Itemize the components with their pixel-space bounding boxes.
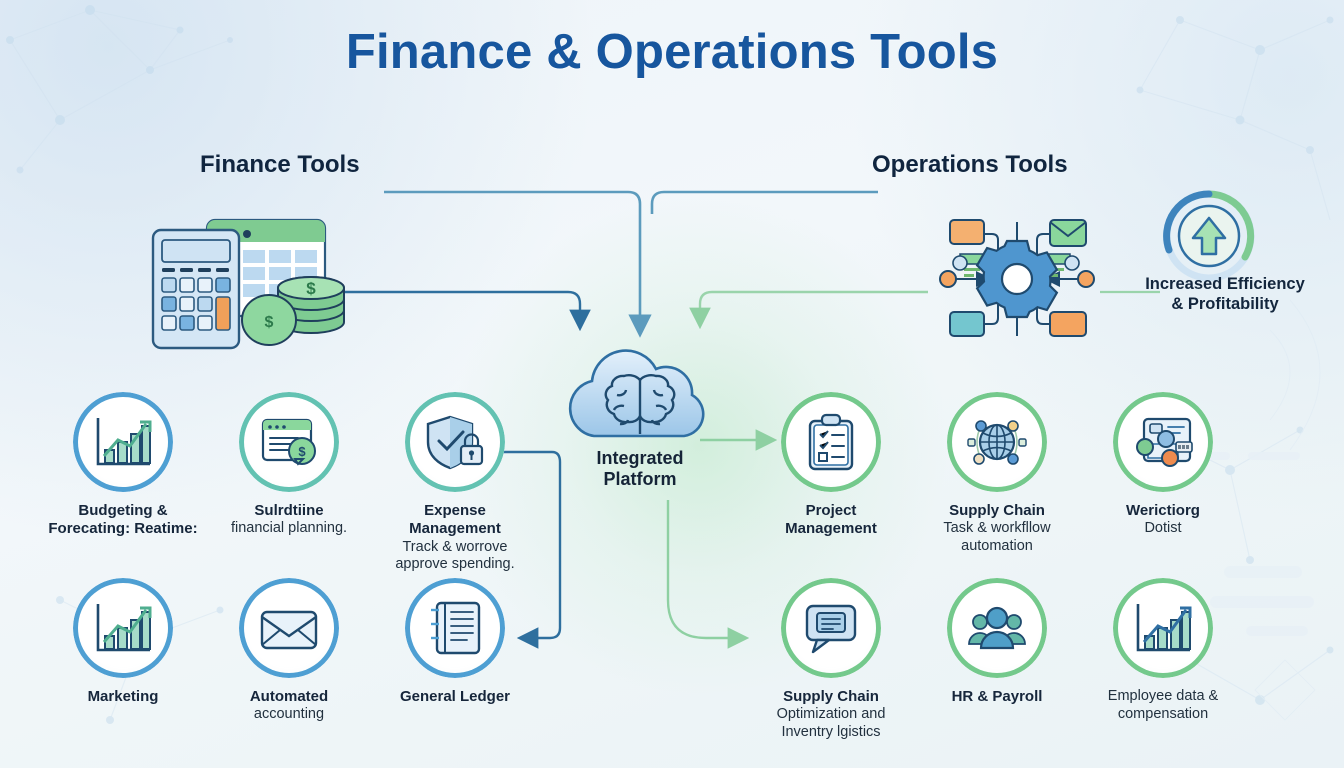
node-ring <box>1113 392 1213 492</box>
node-desc: Dotist <box>1144 520 1181 536</box>
node-expense-management[interactable]: Expense Management Track & worrove appro… <box>380 392 530 574</box>
node-title: General Ledger <box>380 688 530 706</box>
ledger-list-icon <box>427 599 483 657</box>
node-title: Supply Chain <box>922 502 1072 520</box>
node-ring <box>405 578 505 678</box>
document-nodes-icon <box>1132 414 1194 470</box>
globe-network-icon <box>967 413 1027 471</box>
node-supply-chain-optimization[interactable]: Supply Chain Optimization and Inventry l… <box>756 578 906 742</box>
node-marketing[interactable]: Marketing <box>48 578 198 706</box>
node-title: HR & Payroll <box>922 688 1072 706</box>
bar-chart-growth-icon <box>92 600 154 656</box>
node-caption: Sulrdtiine financial planning. <box>214 502 364 538</box>
node-title: Werictiorg <box>1088 502 1238 520</box>
shield-lock-check-icon <box>424 413 486 471</box>
node-caption: HR & Payroll <box>922 688 1072 706</box>
node-title: Supply Chain <box>756 688 906 706</box>
integrated-platform-label: Integrated Platform <box>540 448 740 490</box>
cloud-brain-icon <box>556 344 724 444</box>
node-ring <box>947 578 1047 678</box>
section-heading-finance: Finance Tools <box>200 151 360 179</box>
chat-bubble-icon <box>801 600 861 656</box>
calculator-spreadsheet-coins-illustration: $ $ <box>135 212 350 352</box>
node-title: Sulrdtiine <box>214 502 364 520</box>
clipboard-checklist-icon <box>804 413 858 471</box>
node-title: Project <box>756 502 906 520</box>
node-general-ledger[interactable]: General Ledger <box>380 578 530 706</box>
outcome-badge <box>1163 190 1255 287</box>
node-project-management[interactable]: Project Management <box>756 392 906 539</box>
node-hr-payroll[interactable]: HR & Payroll <box>922 578 1072 706</box>
integrated-platform-line1: Integrated <box>596 448 683 468</box>
up-arrow-gauge-icon <box>1163 190 1255 282</box>
svg-text:$: $ <box>265 314 274 331</box>
node-workflow-docs[interactable]: Werictiorg Dotist <box>1088 392 1238 538</box>
node-ring <box>781 578 881 678</box>
node-ring <box>781 392 881 492</box>
node-title2: Management <box>756 520 906 538</box>
node-desc: Employee data & compensation <box>1108 688 1218 722</box>
integrated-platform-line2: Platform <box>603 469 676 489</box>
node-ring <box>73 392 173 492</box>
node-caption: Expense Management Track & worrove appro… <box>380 502 530 574</box>
node-caption: Automated accounting <box>214 688 364 724</box>
envelope-mail-icon <box>258 604 320 652</box>
node-title2: Forecating: Reatime: <box>48 520 198 538</box>
node-caption: Budgeting & Forecating: Reatime: <box>48 502 198 539</box>
node-title: Expense Management <box>380 502 530 539</box>
node-desc: accounting <box>254 706 324 722</box>
svg-text:$: $ <box>306 279 316 298</box>
node-caption: Supply Chain Optimization and Inventry l… <box>756 688 906 742</box>
node-desc: financial planning. <box>231 520 347 536</box>
outcome-badge-line2: & Profitability <box>1171 295 1278 313</box>
outcome-badge-line1: Increased Efficiency <box>1145 275 1305 293</box>
node-caption: General Ledger <box>380 688 530 706</box>
page-title: Finance & Operations Tools <box>0 24 1344 80</box>
node-ring <box>947 392 1047 492</box>
node-caption: Project Management <box>756 502 906 539</box>
bar-chart-growth-icon <box>92 414 154 470</box>
node-streamline-financial-planning[interactable]: $ Sulrdtiine financial planning. <box>214 392 364 538</box>
node-title: Marketing <box>48 688 198 706</box>
node-caption: Werictiorg Dotist <box>1088 502 1238 538</box>
invoice-dollar-icon: $ <box>258 414 320 470</box>
node-ring <box>405 392 505 492</box>
node-employee-data[interactable]: Employee data & compensation <box>1088 578 1238 723</box>
node-budgeting-forecasting[interactable]: Budgeting & Forecating: Reatime: <box>48 392 198 539</box>
integrated-platform-node[interactable] <box>556 344 724 449</box>
node-caption: Supply Chain Task & workfllow automation <box>922 502 1072 556</box>
node-ring <box>239 578 339 678</box>
node-title: Budgeting & <box>48 502 198 520</box>
node-caption: Employee data & compensation <box>1088 688 1238 723</box>
node-ring: $ <box>239 392 339 492</box>
node-ring <box>1113 578 1213 678</box>
bar-chart-growth-icon <box>1132 600 1194 656</box>
node-caption: Marketing <box>48 688 198 706</box>
outcome-badge-label: Increased Efficiency & Profitability <box>1110 274 1340 314</box>
node-desc: Task & workfllow automation <box>943 520 1050 554</box>
diagram-canvas: Finance & Operations Tools Finance Tools… <box>0 0 1344 768</box>
node-desc: Optimization and Inventry lgistics <box>777 706 886 740</box>
people-group-icon <box>966 604 1028 652</box>
node-desc: Track & worrove approve spending. <box>395 539 514 573</box>
section-heading-operations: Operations Tools <box>872 151 1068 179</box>
node-automated-accounting[interactable]: Automated accounting <box>214 578 364 724</box>
gear-workflow-automation-illustration <box>930 206 1105 351</box>
node-supply-chain-workflow[interactable]: Supply Chain Task & workfllow automation <box>922 392 1072 556</box>
node-ring <box>73 578 173 678</box>
node-title: Automated <box>214 688 364 706</box>
svg-text:$: $ <box>298 444 306 459</box>
